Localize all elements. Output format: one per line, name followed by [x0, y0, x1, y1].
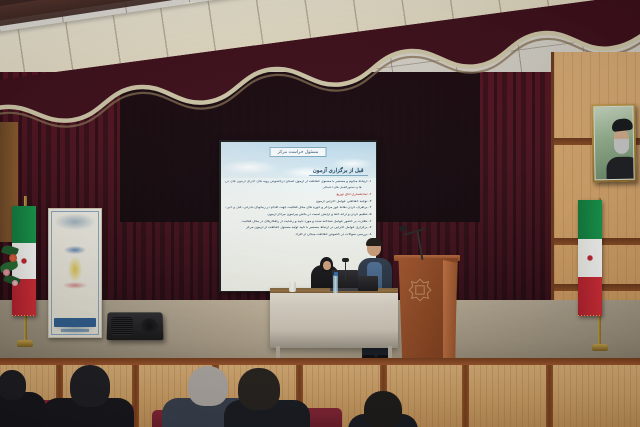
audience-member-head [364, 391, 402, 427]
water-bottle [333, 275, 338, 293]
slide-line: ۷- برگزاری عوامل اجرایی در ارتباط مستمر … [225, 226, 372, 230]
portrait-robe [606, 157, 635, 180]
portrait-turban [611, 117, 633, 131]
paper-cup [289, 282, 296, 292]
laptop[interactable] [358, 276, 378, 291]
banner-calligraphy [55, 237, 95, 296]
speaker-hair [366, 238, 382, 246]
slide-line: ۳- توجیه حفاظتی عوامل اجرایی آزمون [225, 200, 372, 204]
plant-flower [9, 254, 17, 262]
slide-header-box: مسئول حراست مرکز [270, 147, 327, 157]
panelist-face [323, 261, 331, 271]
projection-screen: مسئول حراست مرکز قبل از برگزاری آزمون ۱-… [221, 142, 376, 291]
slide-line: ۵- تنظیم کردن و ارائه خط و آرایش امنیت د… [225, 213, 372, 217]
table-shadow [270, 330, 398, 348]
flag-base-left [17, 340, 33, 347]
flag-fringe [12, 315, 36, 316]
flag-stripe-red [578, 277, 602, 316]
flag-stripe-green [578, 200, 602, 239]
slide-line: ۱- ارتباط مداوم و مستمر با مسئول حفاظت ا… [225, 180, 372, 184]
flag-emblem [587, 254, 594, 262]
slide-line: ها و دستورالعمل های احتمالی [225, 186, 362, 189]
plant-flower [3, 269, 10, 276]
table-microphone-head [342, 258, 349, 262]
portrait-image [593, 106, 634, 181]
flag-base-right [592, 344, 608, 351]
audience-member-head [0, 370, 26, 400]
banner-subtitle-bar [61, 329, 89, 332]
portrait-beard [614, 138, 629, 153]
panel-table [270, 288, 398, 348]
slide-line: ۴- برطرف کردن نقاط کور مراکز و حوزه های … [225, 206, 372, 210]
iranian-flag-right [578, 200, 602, 316]
stage-front-rail [0, 358, 640, 365]
stage-front-divider [546, 365, 553, 427]
speaker-grill [111, 317, 133, 335]
table-microphone-stand [345, 262, 346, 280]
audience-member-head [188, 366, 228, 406]
plant-flower [12, 280, 18, 286]
slide-line: ۶- نظارت بر حضور عوامل شناخته شده و مورد… [225, 220, 372, 224]
stage-monitor-speaker [107, 312, 164, 340]
conference-hall-photo: مسئول حراست مرکز قبل از برگزاری آزمون ۱-… [0, 0, 640, 427]
banner-organization-bar [54, 318, 96, 327]
audience-member-head [70, 365, 110, 407]
flag-fringe [578, 315, 602, 316]
podium-star-emblem-icon [408, 278, 432, 302]
slide-line: ۲- آمادهسازی اتاق توزیع [225, 193, 372, 197]
speaker-driver [141, 318, 158, 334]
stage-front-divider [462, 365, 469, 427]
potted-plant [0, 236, 30, 294]
audience-member-head [238, 368, 280, 410]
podium-side-panel [443, 260, 457, 360]
slide-body: ۱- ارتباط مداوم و مستمر با مسئول حفاظت ا… [225, 180, 372, 240]
event-banner-standee [48, 208, 102, 338]
bottle-cap [334, 272, 338, 276]
framed-portrait [591, 104, 636, 183]
slide-line: ۸- بررسی سوالات در خصوص حفاظت میدان از ا… [225, 233, 372, 237]
slide-title: قبل از برگزاری آزمون [309, 168, 368, 176]
